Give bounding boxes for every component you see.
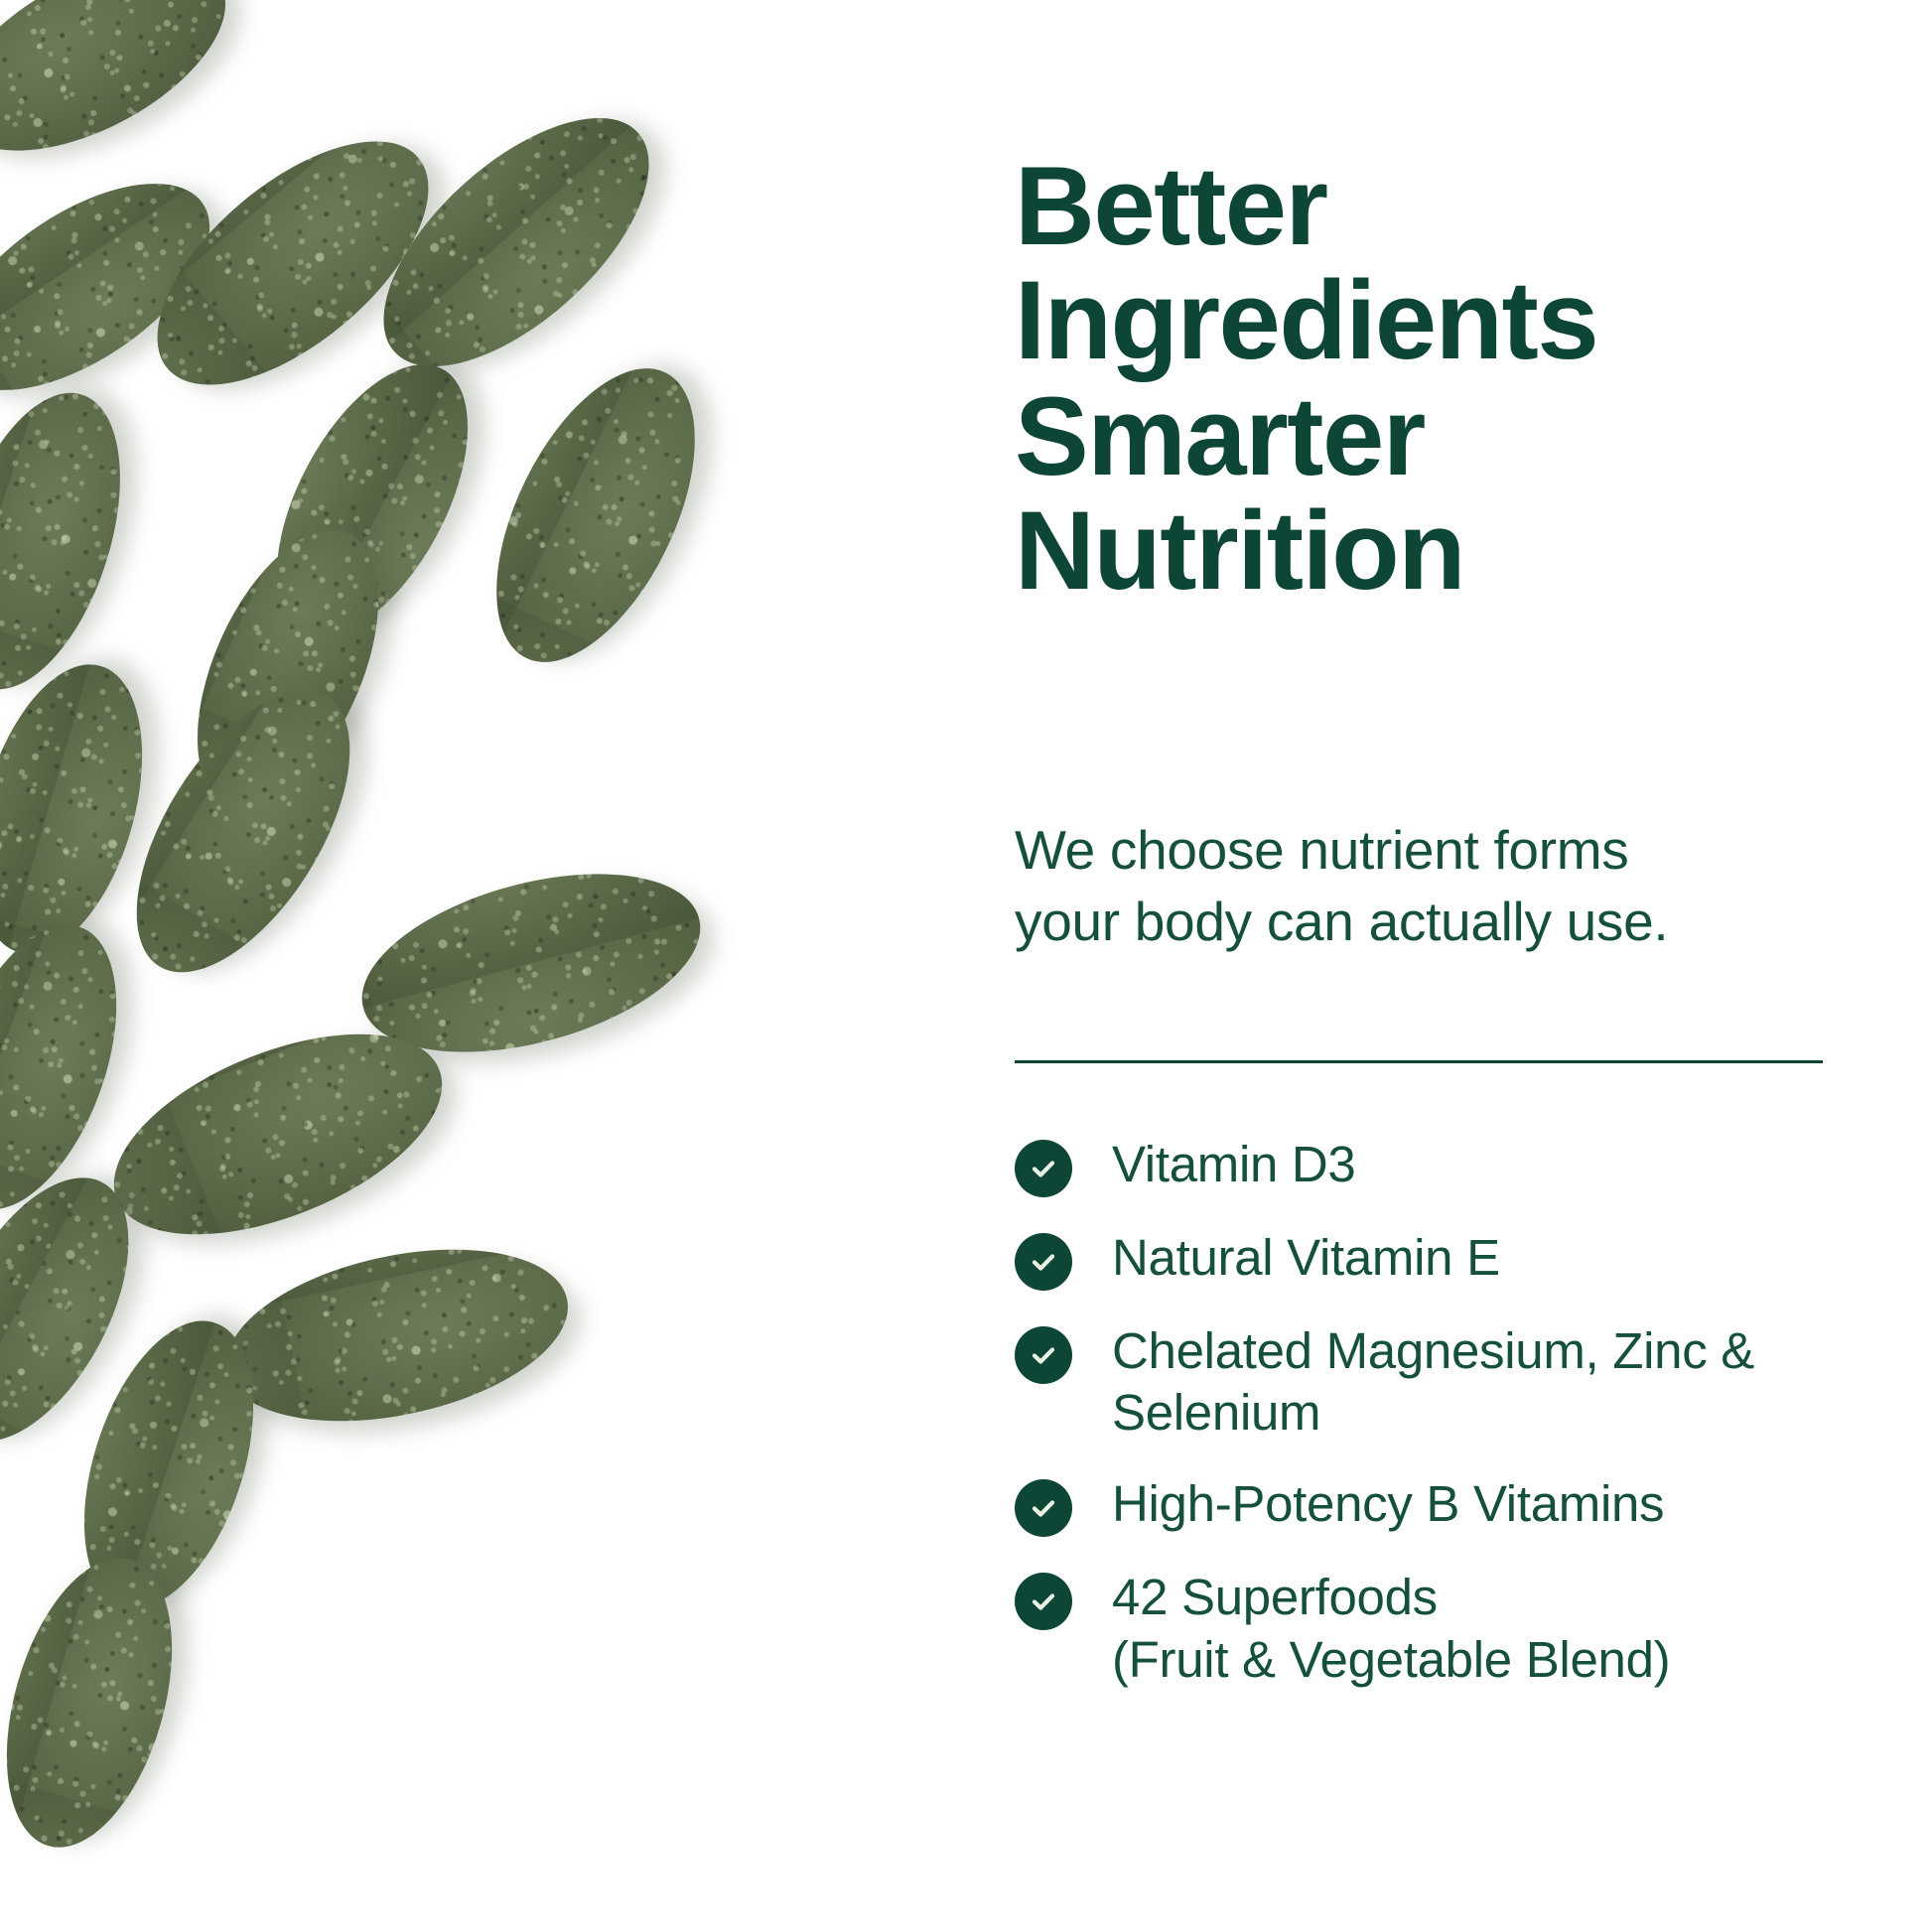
list-item: 42 Superfoods (Fruit & Vegetable Blend) <box>1015 1567 1839 1690</box>
page-title-line-1: Better Ingredients <box>1015 149 1849 378</box>
content-panel: Better Ingredients Smarter Nutrition We … <box>1015 0 1833 1932</box>
tablet <box>0 0 256 191</box>
list-item: Chelated Magnesium, Zinc & Selenium <box>1015 1320 1839 1444</box>
tablet <box>456 339 736 693</box>
check-circle-icon <box>1015 1573 1072 1630</box>
benefit-label: Vitamin D3 <box>1112 1134 1356 1195</box>
check-circle-icon <box>1015 1479 1072 1537</box>
list-item: Vitamin D3 <box>1015 1134 1839 1197</box>
tablet <box>0 371 153 710</box>
tablet <box>210 1221 584 1449</box>
benefit-label: High-Potency B Vitamins <box>1112 1473 1664 1535</box>
check-circle-icon <box>1015 1233 1072 1291</box>
check-circle-icon <box>1015 1326 1072 1384</box>
check-circle-icon <box>1015 1140 1072 1197</box>
benefit-label: Chelated Magnesium, Zinc & Selenium <box>1112 1320 1839 1444</box>
product-photo <box>0 0 774 1932</box>
benefit-label: Natural Vitamin E <box>1112 1227 1500 1289</box>
page-title-line-2: Smarter Nutrition <box>1015 379 1849 609</box>
promo-card: Better Ingredients Smarter Nutrition We … <box>0 0 1932 1932</box>
lede-paragraph: We choose nutrient forms your body can a… <box>1015 815 1710 957</box>
benefit-label: 42 Superfoods (Fruit & Vegetable Blend) <box>1112 1567 1670 1690</box>
benefits-list: Vitamin D3 Natural Vitamin E Chelated Ma… <box>1015 1134 1839 1691</box>
list-item: High-Potency B Vitamins <box>1015 1473 1839 1537</box>
list-item: Natural Vitamin E <box>1015 1227 1839 1291</box>
section-divider <box>1015 1060 1823 1063</box>
